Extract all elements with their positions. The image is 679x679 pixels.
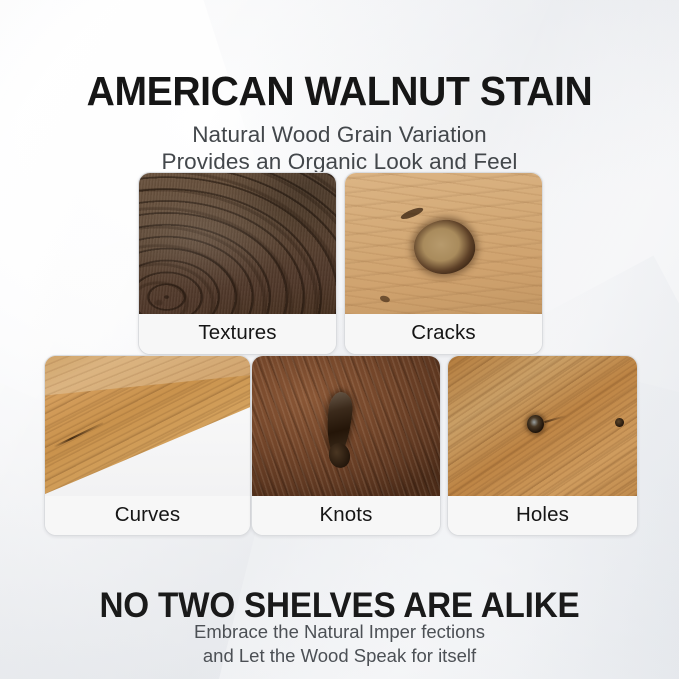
card-label-curves: Curves	[45, 496, 250, 535]
main-headline: AMERICAN WALNUT STAIN	[12, 71, 667, 112]
hole-shape	[527, 415, 544, 433]
feature-card-cracks[interactable]: Cracks	[344, 172, 543, 355]
footer-subheadline-line-2: and Let the Wood Speak for itself	[0, 644, 679, 668]
hole-trail-shape	[545, 415, 567, 423]
wood-texture-dark-brown-icon	[252, 356, 440, 496]
wood-texture-golden-plank-icon	[45, 356, 250, 496]
card-label-knots: Knots	[252, 496, 440, 535]
knot-eye-shape	[411, 216, 479, 278]
footer-subheadline: Embrace the Natural Imper fections and L…	[0, 620, 679, 668]
knot-tail-shape	[400, 205, 425, 220]
main-subheadline-line-2: Provides an Organic Look and Feel	[0, 148, 679, 175]
card-label-cracks: Cracks	[345, 314, 542, 354]
knot-spot-shape	[380, 294, 391, 302]
wood-texture-light-tan-icon	[345, 173, 542, 314]
card-photo-curves	[45, 356, 250, 496]
wood-texture-medium-oak-icon	[448, 356, 637, 496]
feature-card-holes[interactable]: Holes	[447, 355, 638, 536]
card-photo-holes	[448, 356, 637, 496]
hole-small-shape	[615, 418, 624, 427]
card-label-holes: Holes	[448, 496, 637, 535]
feature-card-knots[interactable]: Knots	[251, 355, 441, 536]
main-subheadline: Natural Wood Grain Variation Provides an…	[0, 121, 679, 175]
main-subheadline-line-1: Natural Wood Grain Variation	[192, 122, 487, 147]
card-label-textures: Textures	[139, 314, 336, 354]
feature-card-textures[interactable]: Textures	[138, 172, 337, 355]
card-photo-textures	[139, 173, 336, 314]
card-photo-cracks	[345, 173, 542, 314]
infographic-canvas: AMERICAN WALNUT STAIN Natural Wood Grain…	[0, 0, 679, 679]
card-photo-knots	[252, 356, 440, 496]
feature-card-curves[interactable]: Curves	[44, 355, 251, 536]
footer-headline: NO TWO SHELVES ARE ALIKE	[17, 588, 662, 623]
footer-subheadline-line-1: Embrace the Natural Imper fections	[194, 621, 485, 642]
wood-texture-dark-walnut-icon	[139, 173, 336, 314]
